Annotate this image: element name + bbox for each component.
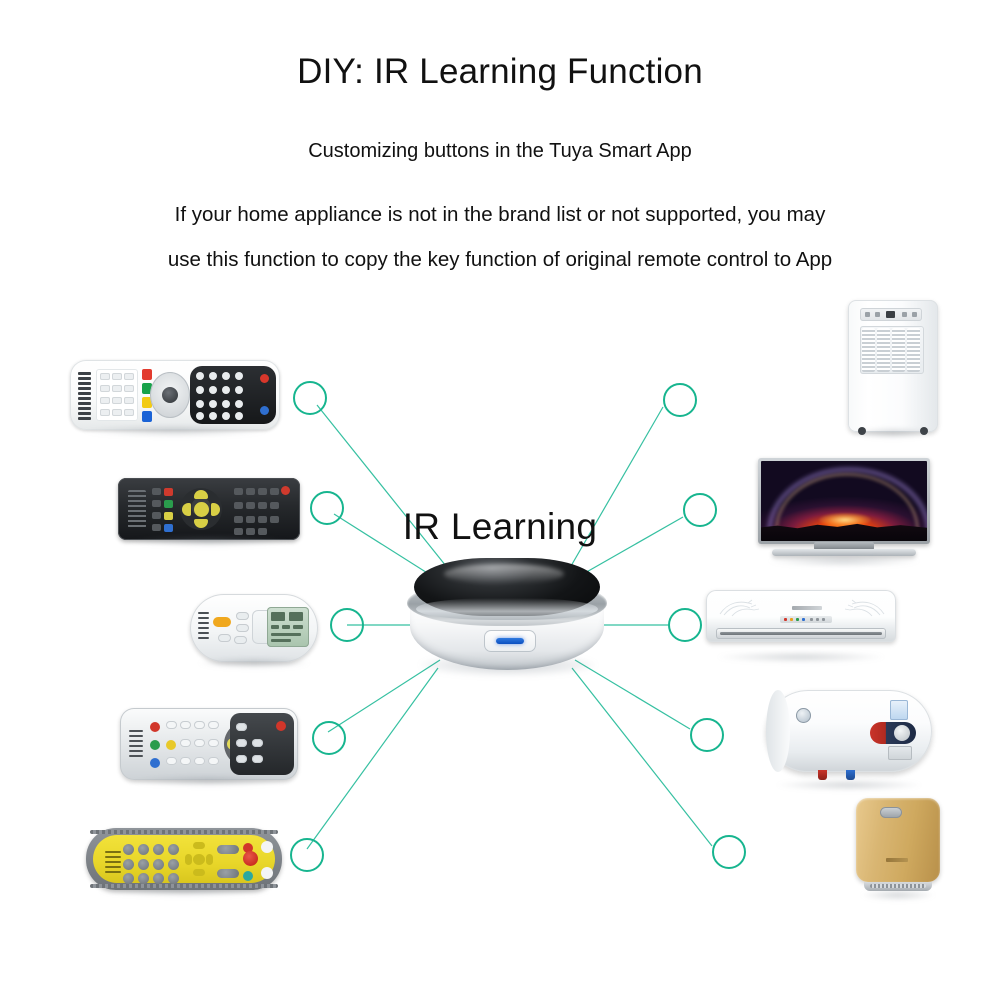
node-water-heater[interactable] [690, 718, 724, 752]
appliance-air-purifier[interactable] [856, 798, 940, 894]
ir-remote-control-hub[interactable] [402, 558, 612, 678]
remote-silver-shadow [131, 775, 288, 787]
remote-yellow-dpad[interactable] [185, 842, 213, 876]
remote-silver-function-panel[interactable] [230, 713, 294, 775]
remote-dark-green-button[interactable] [164, 500, 173, 508]
remote-silver-yellow-button[interactable] [166, 740, 176, 750]
remote-dark-legend [128, 490, 146, 528]
television-screen [761, 461, 927, 541]
water-heater-inlet-port [796, 708, 811, 723]
node-remote-ac[interactable] [330, 608, 364, 642]
hub-dome-highlight [444, 564, 564, 584]
node-remote-silver[interactable] [312, 721, 346, 755]
split-ac-display-panel [780, 616, 832, 623]
remote-yellow-legend [105, 851, 121, 875]
remote-yellow-teal-button[interactable] [243, 871, 253, 881]
remote-white-tv[interactable] [70, 360, 280, 430]
remote-dark-yellow-button[interactable] [164, 512, 173, 520]
node-remote-yellow[interactable] [290, 838, 324, 872]
appliance-split-air-conditioner[interactable] [706, 590, 896, 656]
remote-silver-green-button[interactable] [150, 740, 160, 750]
remote-ac[interactable] [190, 594, 318, 662]
node-air-purifier[interactable] [712, 835, 746, 869]
remote-yellow-power-button[interactable] [243, 851, 258, 866]
split-ac-floral-pattern-right [832, 596, 886, 618]
remote-yellow[interactable] [86, 828, 282, 890]
infographic-canvas: DIY: IR Learning Function Customizing bu… [0, 0, 1000, 1000]
air-purifier-shadow [861, 889, 935, 901]
water-heater-energy-label [890, 700, 908, 720]
split-ac-shadow [717, 651, 884, 663]
appliance-water-heater[interactable] [766, 686, 932, 784]
remote-dark-red-button[interactable] [164, 488, 173, 496]
water-heater-shadow [776, 779, 922, 791]
remote-white-tv-legend [78, 372, 92, 418]
remote-white-tv-aux-button[interactable] [260, 406, 269, 415]
remote-yellow-face [93, 835, 275, 883]
portable-ac-control-panel[interactable] [860, 308, 922, 321]
remote-ac-power-button[interactable] [213, 617, 231, 627]
water-heater-display [888, 746, 912, 760]
television-shadow [768, 555, 919, 567]
hub-dome-rim [416, 598, 598, 620]
remote-white-tv-keypad[interactable] [96, 369, 138, 421]
air-purifier-brand-mark [886, 858, 908, 862]
node-split-ac[interactable] [668, 608, 702, 642]
remote-dark-blue-button[interactable] [164, 524, 173, 532]
remote-ac-shadow [198, 657, 311, 669]
appliance-television[interactable] [758, 458, 930, 560]
remote-yellow-shadow [98, 885, 270, 897]
remote-ac-lcd-display [267, 607, 309, 647]
air-purifier-handle [880, 807, 902, 818]
remote-silver-blue-button[interactable] [150, 758, 160, 768]
remote-dark-dpad[interactable] [180, 488, 222, 530]
remote-white-tv-numeric-panel[interactable] [190, 366, 276, 424]
portable-ac-shadow [853, 427, 932, 439]
remote-silver-power-button[interactable] [276, 721, 286, 731]
remote-silver[interactable] [120, 708, 298, 780]
remote-dark-power-button[interactable] [281, 486, 290, 495]
remote-yellow-top-hatch [90, 830, 278, 834]
remote-dark-shadow [129, 535, 289, 547]
remote-silver-red-button[interactable] [150, 722, 160, 732]
remote-ac-legend [198, 612, 209, 642]
portable-ac-air-grille [860, 326, 924, 374]
remote-white-tv-power-button[interactable] [260, 374, 269, 383]
appliance-portable-air-conditioner[interactable] [848, 300, 938, 432]
remote-yellow-aux1-button[interactable] [261, 841, 273, 853]
remote-white-tv-shadow [83, 425, 268, 437]
remote-dark[interactable] [118, 478, 300, 540]
node-portable-ac[interactable] [663, 383, 697, 417]
remote-yellow-aux2-button[interactable] [261, 867, 273, 879]
water-heater-end-cap [766, 690, 790, 772]
remote-white-tv-dpad[interactable] [148, 370, 192, 420]
water-heater-control-dial[interactable] [870, 722, 916, 744]
remote-silver-legend [129, 730, 143, 758]
node-remote-white-tv[interactable] [293, 381, 327, 415]
hub-led-indicator[interactable] [484, 630, 536, 652]
air-purifier-air-outlet [870, 884, 926, 888]
split-ac-air-outlet-louver [716, 628, 886, 639]
split-ac-brand-mark [792, 606, 822, 610]
split-ac-floral-pattern-left [718, 596, 772, 618]
